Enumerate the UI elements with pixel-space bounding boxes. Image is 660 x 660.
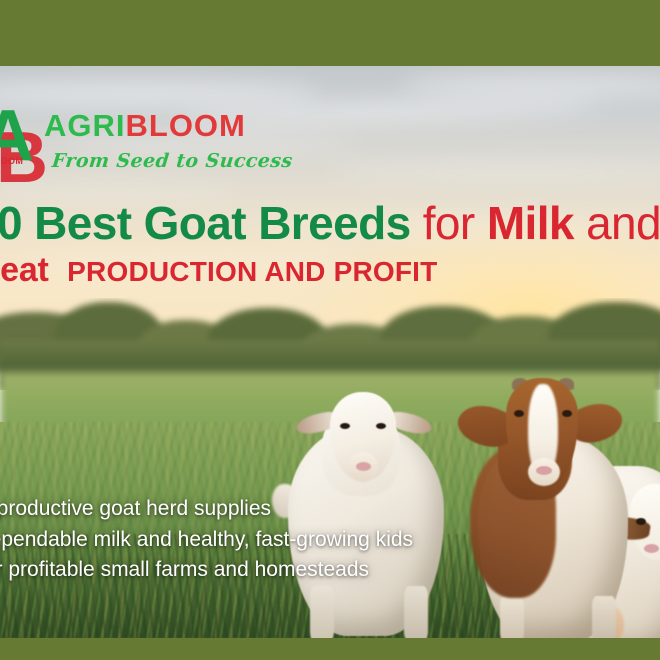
goat-boer-eye [562, 410, 572, 417]
goat-white-nose [356, 462, 371, 471]
wordmark-agri: AGRI [44, 108, 126, 143]
logo-micro-text: RIBLOOM [0, 156, 23, 166]
body-line-3: for profitable small farms and homestead… [0, 555, 413, 586]
headline-line-1: 10 Best Goat Breeds for Milk and [0, 200, 660, 247]
goat-boer-leg [500, 596, 524, 638]
headline-and: and [586, 197, 660, 249]
wordmark-bloom: BLOOM [126, 108, 246, 143]
brand-tagline: From Seed to Success [51, 150, 294, 172]
goat-third-nose [644, 544, 659, 553]
goat-boer-eye [514, 410, 524, 417]
goat-boer-leg [592, 596, 616, 638]
goat-white-eye [340, 423, 350, 429]
goat-white-leg [404, 586, 428, 638]
brand-wordmark: AGRIBLOOM [44, 110, 246, 141]
body-line-2: dependable milk and healthy, fast-growin… [0, 525, 413, 556]
headline-block: 10 Best Goat Breeds for Milk and Meat PR… [0, 200, 660, 288]
goat-third-eye [636, 518, 646, 525]
goat-white-eye [376, 423, 386, 429]
bottom-border-band [0, 638, 660, 660]
headline-line-2: Meat PRODUCTION AND PROFIT [0, 253, 660, 288]
promotional-banner: B A RIBLOOM AGRIBLOOM From Seed to Succe… [0, 0, 660, 660]
goat-white-leg [310, 586, 334, 638]
headline-green-text: 10 Best Goat Breeds [0, 197, 411, 249]
goat-boer-nose [536, 466, 552, 475]
body-line-1: A productive goat herd supplies [0, 494, 413, 525]
body-copy-block: A productive goat herd supplies dependab… [0, 494, 413, 586]
headline-for: for [423, 197, 475, 249]
headline-milk: Milk [487, 197, 574, 249]
top-border-band [0, 0, 660, 66]
headline-caps: PRODUCTION AND PROFIT [67, 256, 437, 287]
headline-meat: Meat [0, 251, 49, 289]
